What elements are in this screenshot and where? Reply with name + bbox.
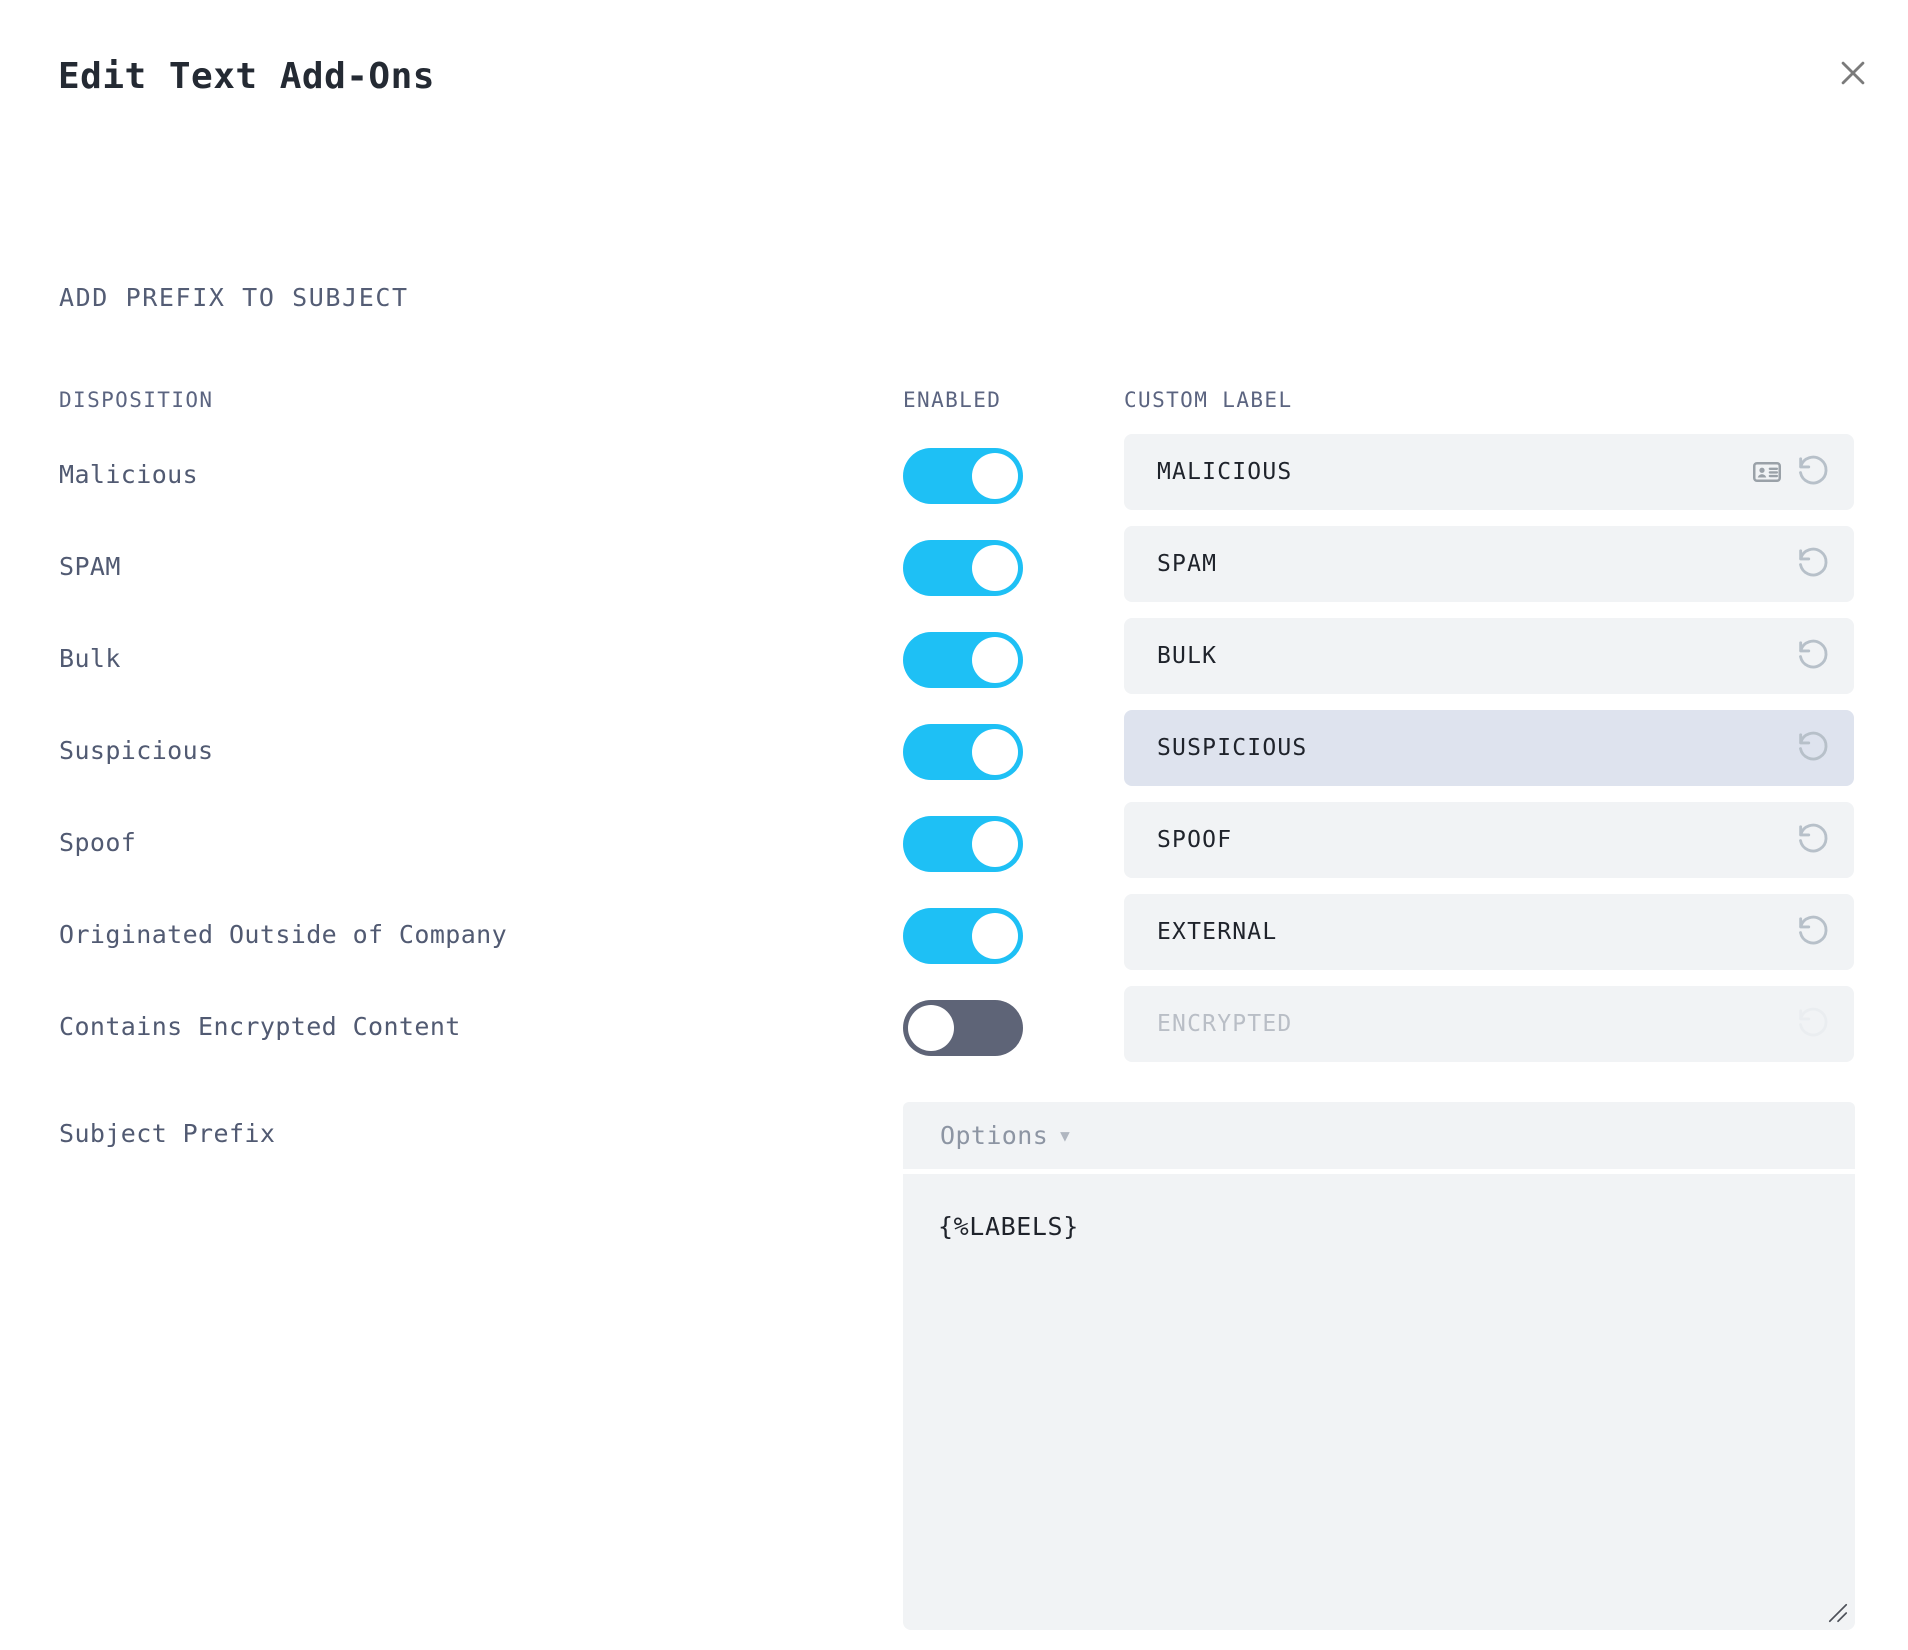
options-dropdown-label: Options <box>940 1121 1048 1150</box>
reset-icon[interactable] <box>1796 730 1832 766</box>
disposition-label: Malicious <box>59 460 198 489</box>
custom-label-value: EXTERNAL <box>1157 919 1277 945</box>
reset-icon[interactable] <box>1796 454 1832 490</box>
custom-label-value: BULK <box>1157 643 1217 669</box>
custom-label-value: SPAM <box>1157 551 1217 577</box>
options-dropdown[interactable]: Options ▼ <box>903 1102 1855 1169</box>
toggle-knob <box>972 821 1018 867</box>
custom-label-input[interactable]: SPOOF <box>1124 802 1854 878</box>
toggle-knob <box>972 637 1018 683</box>
disposition-label: Originated Outside of Company <box>59 920 507 949</box>
disposition-label: Bulk <box>59 644 121 673</box>
variable-insert-icon[interactable] <box>1752 457 1782 487</box>
toggle-knob <box>972 729 1018 775</box>
column-header-custom-label: CUSTOM LABEL <box>1124 388 1293 412</box>
field-icon-group <box>1796 710 1832 786</box>
enabled-toggle[interactable] <box>903 816 1023 872</box>
section-label-add-prefix-to-subject: ADD PREFIX TO SUBJECT <box>59 283 409 312</box>
close-button[interactable] <box>1820 40 1886 106</box>
custom-label-input[interactable]: SUSPICIOUS <box>1124 710 1854 786</box>
enabled-toggle[interactable] <box>903 448 1023 504</box>
custom-label-input[interactable]: BULK <box>1124 618 1854 694</box>
custom-label-input[interactable]: EXTERNAL <box>1124 894 1854 970</box>
custom-label-input[interactable]: MALICIOUS <box>1124 434 1854 510</box>
reset-icon[interactable] <box>1796 914 1832 950</box>
field-icon-group <box>1752 434 1832 510</box>
table-row: SpoofSPOOF <box>0 802 1908 894</box>
field-icon-group <box>1796 802 1832 878</box>
custom-label-value: SUSPICIOUS <box>1157 735 1307 761</box>
dialog-title: Edit Text Add-Ons <box>58 56 435 97</box>
toggle-knob <box>972 913 1018 959</box>
field-icon-group <box>1796 986 1832 1062</box>
custom-label-value: SPOOF <box>1157 827 1232 853</box>
custom-label-input: ENCRYPTED <box>1124 986 1854 1062</box>
reset-icon[interactable] <box>1796 822 1832 858</box>
table-row: Originated Outside of CompanyEXTERNAL <box>0 894 1908 986</box>
column-header-enabled: ENABLED <box>903 388 1001 412</box>
reset-icon <box>1796 1006 1832 1042</box>
column-header-disposition: DISPOSITION <box>59 388 213 412</box>
toggle-knob <box>972 453 1018 499</box>
enabled-toggle[interactable] <box>903 1000 1023 1056</box>
subject-prefix-value: {%LABELS} <box>938 1212 1079 1241</box>
field-icon-group <box>1796 526 1832 602</box>
table-row: MaliciousMALICIOUS <box>0 434 1908 526</box>
custom-label-input[interactable]: SPAM <box>1124 526 1854 602</box>
disposition-label: SPAM <box>59 552 121 581</box>
field-icon-group <box>1796 894 1832 970</box>
toggle-knob <box>908 1005 954 1051</box>
disposition-label: Spoof <box>59 828 136 857</box>
enabled-toggle[interactable] <box>903 724 1023 780</box>
custom-label-value: MALICIOUS <box>1157 459 1292 485</box>
field-icon-group <box>1796 618 1832 694</box>
edit-text-addons-dialog: Edit Text Add-Ons ADD PREFIX TO SUBJECT … <box>0 0 1908 1650</box>
disposition-label: Contains Encrypted Content <box>59 1012 461 1041</box>
custom-label-value: ENCRYPTED <box>1157 1011 1292 1037</box>
table-row: SuspiciousSUSPICIOUS <box>0 710 1908 802</box>
enabled-toggle[interactable] <box>903 908 1023 964</box>
enabled-toggle[interactable] <box>903 632 1023 688</box>
subject-prefix-textarea[interactable]: {%LABELS} <box>903 1174 1855 1630</box>
disposition-label: Suspicious <box>59 736 214 765</box>
close-icon <box>1836 56 1870 90</box>
table-row: BulkBULK <box>0 618 1908 710</box>
subject-prefix-label: Subject Prefix <box>59 1119 275 1148</box>
resize-grip-icon[interactable] <box>1827 1602 1849 1624</box>
enabled-toggle[interactable] <box>903 540 1023 596</box>
reset-icon[interactable] <box>1796 638 1832 674</box>
table-row: SPAMSPAM <box>0 526 1908 618</box>
reset-icon[interactable] <box>1796 546 1832 582</box>
toggle-knob <box>972 545 1018 591</box>
chevron-down-icon: ▼ <box>1060 1128 1070 1144</box>
table-row: Contains Encrypted ContentENCRYPTED <box>0 986 1908 1078</box>
